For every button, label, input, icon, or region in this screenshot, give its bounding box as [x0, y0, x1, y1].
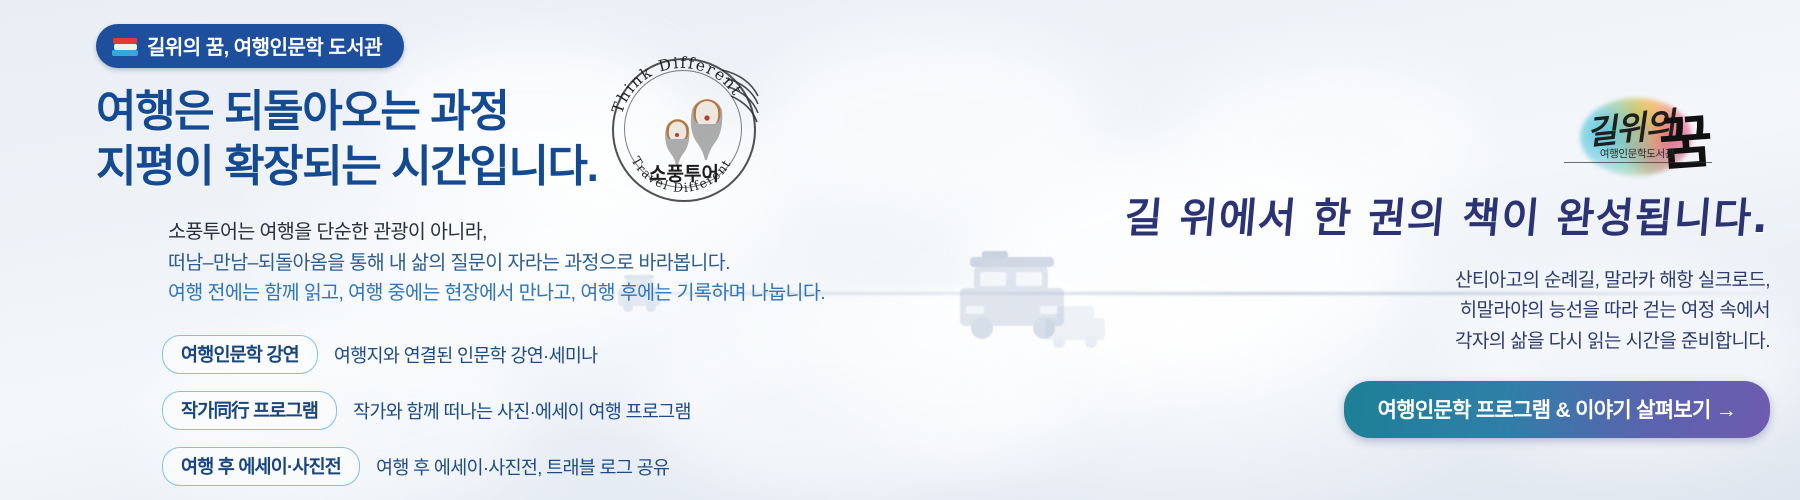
program-tag[interactable]: 여행 후 에세이·사진전: [162, 447, 360, 486]
intro-line-2: 떠남–만남–되돌아옴을 통해 내 삶의 질문이 자라는 과정으로 바라봅니다.: [168, 248, 886, 279]
brand-logo: 길위의 꿈 여행인문학도서관: [1060, 96, 1770, 170]
list-item[interactable]: 작가同行 프로그램 작가와 함께 떠나는 사진·에세이 여행 프로그램: [162, 391, 886, 430]
books-icon: [112, 36, 138, 56]
right-line-2: 히말라야의 능선을 따라 걷는 여정 속에서: [1060, 296, 1770, 326]
think-different-stamp: Think Different Travel Different 소풍투어: [604, 52, 764, 200]
brand-logo-underline: [1564, 162, 1712, 163]
headline-line-2: 지평이 확장되는 시간입니다.: [96, 139, 886, 194]
right-paragraph: 산티아고의 순례길, 말라카 해항 실크로드, 히말라야의 능선을 따라 걷는 …: [1060, 266, 1770, 357]
program-tag[interactable]: 여행인문학 강연: [162, 335, 318, 374]
program-description: 여행지와 연결된 인문학 강연·세미나: [334, 342, 598, 368]
page-title: 여행은 되돌아오는 과정 지평이 확장되는 시간입니다.: [96, 84, 886, 195]
svg-text:Think Different: Think Different: [609, 54, 747, 116]
right-headline: 길 위에서 한 권의 책이 완성됩니다.: [1057, 184, 1772, 244]
library-badge[interactable]: 길위의 꿈, 여행인문학 도서관: [96, 24, 404, 68]
headline-line-1: 여행은 되돌아오는 과정: [96, 87, 508, 136]
program-list: 여행인문학 강연 여행지와 연결된 인문학 강연·세미나 작가同行 프로그램 작…: [162, 335, 886, 486]
left-content-column: 길위의 꿈, 여행인문학 도서관 여행은 되돌아오는 과정 지평이 확장되는 시…: [96, 24, 886, 500]
library-badge-label: 길위의 꿈, 여행인문학 도서관: [147, 31, 382, 60]
program-description: 여행 후 에세이·사진전, 트래블 로그 공유: [376, 454, 669, 480]
right-content-column: 길위의 꿈 여행인문학도서관 길 위에서 한 권의 책이 완성됩니다. 산티아고…: [1060, 96, 1770, 438]
intro-line-1: 소풍투어는 여행을 단순한 관광이 아니라,: [168, 217, 886, 248]
stamp-artwork: Think Different Travel Different 소풍투어: [604, 52, 764, 200]
program-tag[interactable]: 작가同行 프로그램: [162, 391, 337, 430]
stamp-center-text: 소풍투어: [649, 163, 719, 185]
intro-paragraph: 소풍투어는 여행을 단순한 관광이 아니라, 떠남–만남–되돌아옴을 통해 내 …: [168, 217, 886, 309]
list-item[interactable]: 여행 후 에세이·사진전 여행 후 에세이·사진전, 트래블 로그 공유: [162, 447, 886, 486]
right-line-3: 각자의 삶을 다시 읽는 시간을 준비합니다.: [1060, 327, 1770, 357]
list-item[interactable]: 여행인문학 강연 여행지와 연결된 인문학 강연·세미나: [162, 335, 886, 374]
right-line-1: 산티아고의 순례길, 말라카 해항 실크로드,: [1060, 266, 1770, 296]
explore-programs-button[interactable]: 여행인문학 프로그램 & 이야기 살펴보기 →: [1344, 381, 1770, 438]
intro-line-3: 여행 전에는 함께 읽고, 여행 중에는 현장에서 만나고, 여행 후에는 기록…: [168, 278, 886, 309]
brand-logo-subtitle: 여행인문학도서관: [1600, 146, 1674, 161]
brand-logo-kkum: 꿈: [1656, 94, 1715, 182]
promo-banner: 길위의 꿈, 여행인문학 도서관 여행은 되돌아오는 과정 지평이 확장되는 시…: [0, 0, 1800, 500]
program-description: 작가와 함께 떠나는 사진·에세이 여행 프로그램: [353, 398, 691, 424]
stamp-top-text: Think Different: [609, 54, 747, 116]
